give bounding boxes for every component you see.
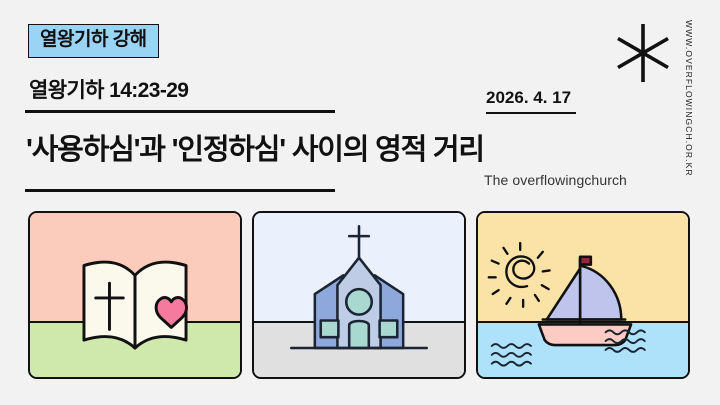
church-window-right-icon: [380, 321, 398, 338]
steeple-cross-icon: [349, 226, 369, 257]
flag-icon: [580, 257, 591, 265]
illustration-card-group: [28, 211, 690, 379]
card-bible: [28, 211, 242, 379]
sail-right: [580, 266, 621, 320]
date-underline: [486, 112, 576, 114]
sun-icon: [489, 243, 550, 307]
sail-left: [547, 269, 580, 320]
church-name-subtitle: The overflowingchurch: [484, 172, 627, 188]
church-window-left-icon: [321, 321, 339, 338]
sailboat-scene-icon: [478, 213, 688, 377]
open-book-icon: [30, 213, 240, 377]
page-title: '사용하심'과 '인정하심' 사이의 영적 거리: [26, 126, 484, 168]
website-url-vertical: WWW.OVERFLOWINGCH.OR.KR: [681, 20, 697, 190]
sermon-thumbnail-canvas: 열왕기하 강해 열왕기하 14:23-29 '사용하심'과 '인정하심' 사이의…: [0, 0, 720, 405]
card-church: [252, 211, 466, 379]
asterisk-icon: [612, 22, 674, 84]
series-badge: 열왕기하 강해: [28, 24, 159, 58]
rose-window-icon: [346, 289, 372, 315]
scripture-reference: 열왕기하 14:23-29: [29, 74, 188, 104]
church-door-icon: [349, 321, 369, 348]
website-url-text: WWW.OVERFLOWINGCH.OR.KR: [684, 20, 694, 177]
title-rule-bottom: [25, 189, 335, 192]
church-building-icon: [254, 213, 464, 377]
title-rule-top: [25, 110, 335, 113]
wave-lines-left: [492, 344, 531, 366]
sermon-date: 2026. 4. 17: [486, 88, 571, 108]
card-sailboat: [476, 211, 690, 379]
